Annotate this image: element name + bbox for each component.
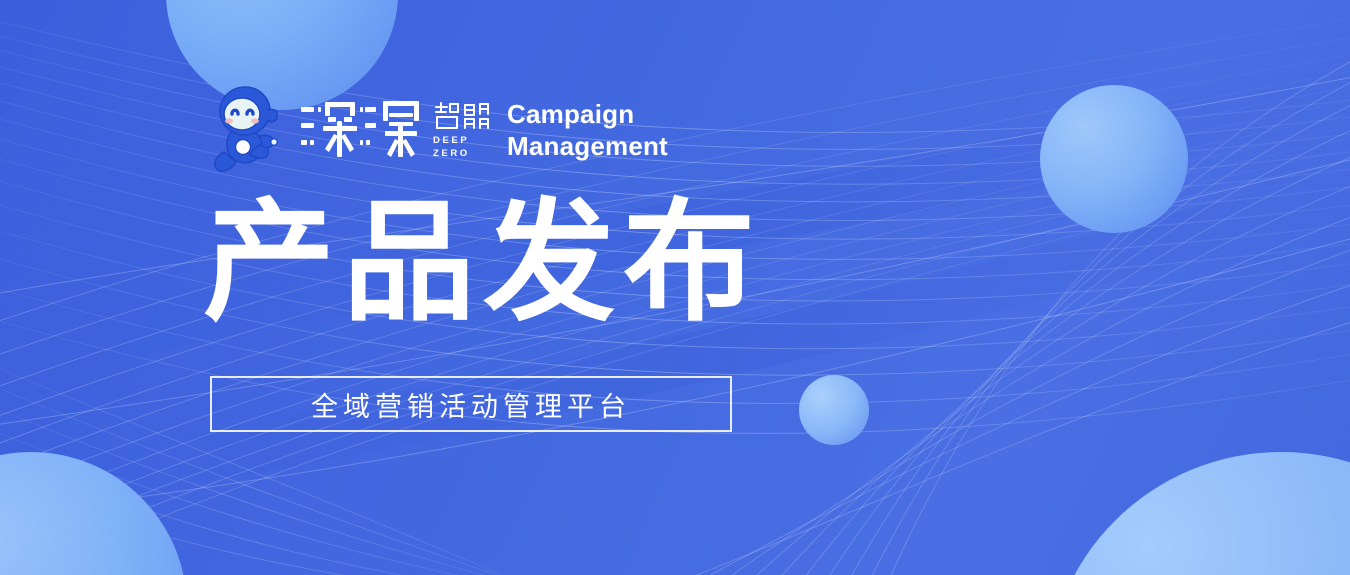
- brand-english-name: Campaign Management: [507, 98, 668, 162]
- brand-submark: DEEP ZERO: [433, 97, 491, 163]
- brand-wordmark-cn-icon: [299, 99, 427, 161]
- subtitle-frame: 全域营销活动管理平台: [210, 376, 732, 432]
- submark-zero-text: ZERO: [433, 148, 470, 159]
- submark-deep-text: DEEP: [433, 135, 469, 146]
- page-title: 产品发布: [203, 188, 763, 338]
- brand-submark-en-icon: DEEP ZERO: [433, 134, 491, 160]
- brand-logo-lockup: DEEP ZERO Campaign Management: [205, 82, 668, 178]
- subtitle-text: 全域营销活动管理平台: [311, 385, 631, 424]
- banner-content: DEEP ZERO Campaign Management 产品发布 全域营销活…: [0, 0, 1350, 575]
- product-launch-banner: DEEP ZERO Campaign Management 产品发布 全域营销活…: [0, 0, 1350, 575]
- brand-submark-cn-icon: [433, 101, 491, 131]
- robot-mascot-icon: [205, 84, 287, 176]
